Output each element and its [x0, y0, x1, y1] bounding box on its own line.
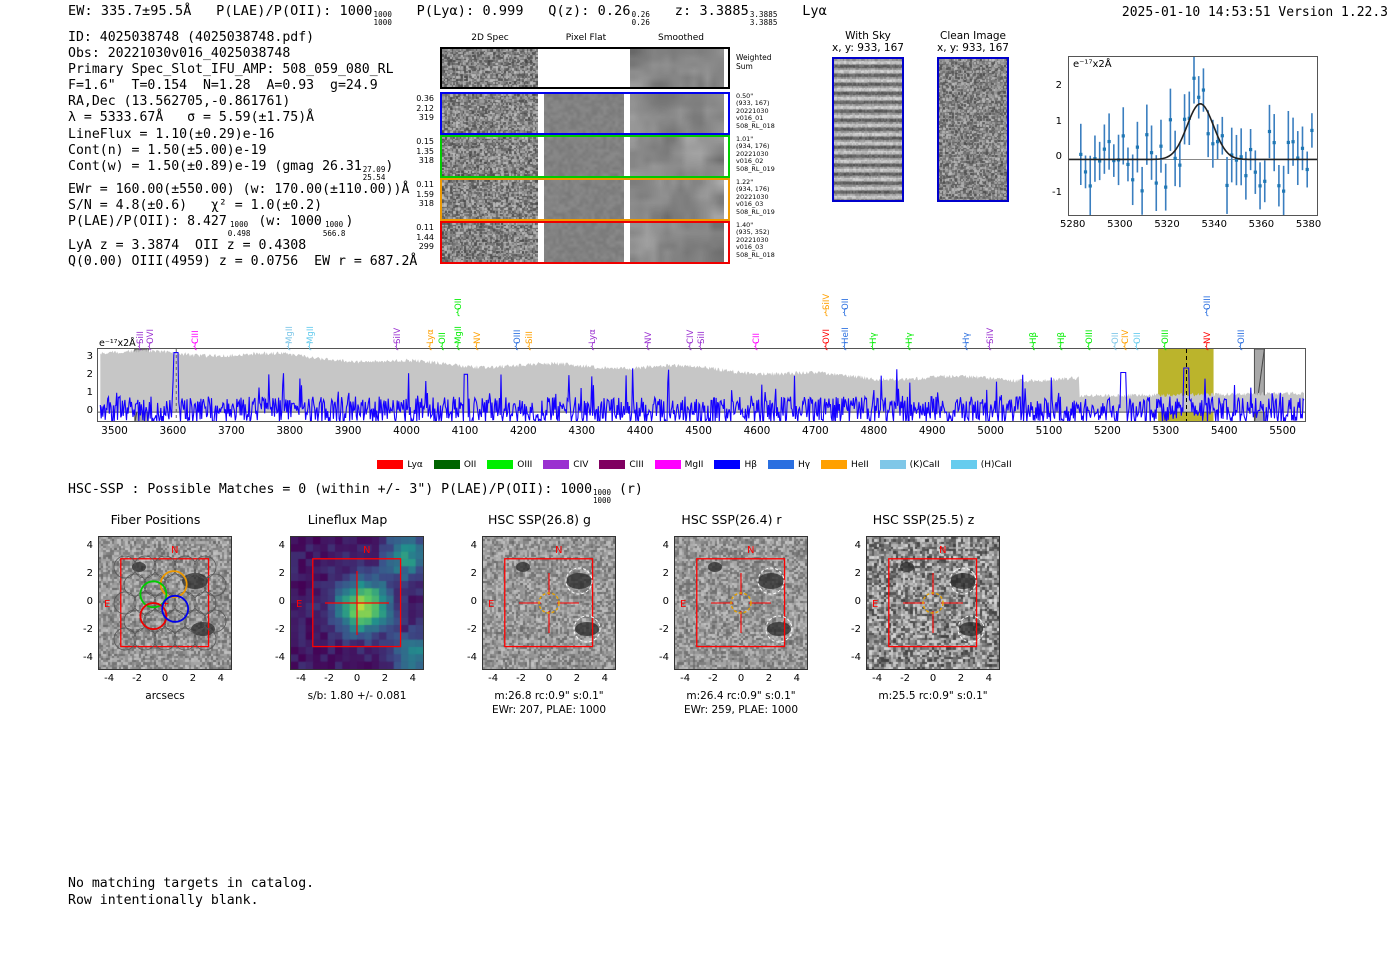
- spec2d-block: 2D SpecPixel FlatSmoothedWeighted Sum0.3…: [440, 33, 730, 46]
- legend-item: MgII: [655, 460, 704, 470]
- emission-line-label: OII: [1133, 314, 1143, 344]
- cutout-xtick: -4: [287, 673, 315, 684]
- spectrum-xtick: 4100: [439, 425, 491, 437]
- spec2d-row-stat: 2.12: [400, 104, 434, 114]
- emission-line-brace: {: [1238, 342, 1244, 352]
- spectrum-frame: [97, 348, 1306, 422]
- emission-line-brace: {: [870, 342, 876, 352]
- svg-text:E: E: [872, 599, 878, 610]
- cutout-ytick: -4: [452, 652, 477, 663]
- emission-line-brace: {: [1204, 342, 1210, 352]
- emission-line-brace: {: [698, 342, 704, 352]
- emission-line-label: MgII: [306, 314, 316, 344]
- smoothed-image: [630, 137, 724, 176]
- cutout-caption-1: s/b: 1.80 +/- 0.081: [276, 690, 438, 703]
- spec2d-image: [442, 94, 538, 133]
- emission-line-brace: {: [455, 342, 461, 352]
- weighted-sum-label: Weighted Sum: [736, 53, 796, 71]
- fit-plot-ytick: -1: [1040, 187, 1062, 198]
- sky-panel: Clean Imagex, y: 933, 167: [923, 30, 1023, 202]
- emission-line-label: OIII: [1203, 280, 1213, 310]
- sky-panel-title: Clean Image: [923, 30, 1023, 42]
- cutout-ytick: 0: [644, 596, 669, 607]
- legend-swatch: [951, 460, 977, 469]
- cutout-xtick: 2: [563, 673, 591, 684]
- emission-line-brace: {: [1086, 342, 1092, 352]
- cutout-xtick: 0: [151, 673, 179, 684]
- fit-plot-xtick: 5360: [1239, 219, 1283, 230]
- cutout-ytick: -2: [68, 624, 93, 635]
- timestamp-version: 2025-01-10 14:53:51 Version 1.22.3: [1122, 5, 1388, 20]
- cutout-ytick: 4: [68, 540, 93, 551]
- emission-line-brace: {: [753, 342, 759, 352]
- sky-panel-coords: x, y: 933, 167: [818, 42, 918, 54]
- info-seeing: F=1.6" T=0.154 N=1.28 A=0.93 g=24.9: [68, 78, 417, 94]
- cutout-xtick: -4: [95, 673, 123, 684]
- emission-line-label: SiIV: [393, 314, 403, 344]
- info-sn: S/N = 4.8(±0.6) χ² = 1.0(±0.2): [68, 198, 417, 214]
- info-redshifts: LyA z = 3.3874 OII z = 0.4308: [68, 238, 417, 254]
- emission-line-label: Hβ: [1057, 314, 1067, 344]
- sky-panel-caption: Clean Imagex, y: 933, 167: [923, 30, 1023, 54]
- fit-plot-ytick: 2: [1040, 80, 1062, 91]
- hsc-header-tail: (r): [619, 482, 643, 497]
- fit-plot-xtick: 5320: [1145, 219, 1189, 230]
- spec2d-image: [442, 223, 538, 262]
- pixel-flat-image: [544, 137, 624, 176]
- emission-line-brace: {: [1112, 342, 1118, 352]
- spec2d-row-stat: 1.35: [400, 147, 434, 157]
- emission-line-label: OII: [841, 280, 851, 310]
- svg-text:N: N: [363, 545, 370, 556]
- spectrum-xtick: 3900: [322, 425, 374, 437]
- cutout-caption-1: m:25.5 rc:0.9" s:0.1": [852, 690, 1014, 703]
- emission-line-brace: {: [286, 342, 292, 352]
- svg-text:E: E: [488, 599, 494, 610]
- spec2d-row-stat: 1.59: [400, 190, 434, 200]
- fit-plot-ytick: 0: [1040, 151, 1062, 162]
- sky-panel-image-frame: [832, 57, 904, 202]
- emission-line-label: OIII: [1161, 314, 1171, 344]
- legend-swatch: [487, 460, 513, 469]
- spec2d-row: [440, 221, 730, 264]
- spec2d-image: [442, 180, 538, 219]
- spec2d-row: [440, 135, 730, 178]
- plya-label: P(Lyα):: [417, 3, 475, 19]
- spec2d-image: [442, 49, 538, 87]
- info-plae-mid: (w: 1000: [258, 214, 322, 229]
- emission-line-brace: {: [147, 342, 153, 352]
- cutout-xtick: 4: [591, 673, 619, 684]
- cutout-xtick: -4: [479, 673, 507, 684]
- cutout-caption-2: EWr: 207, PLAE: 1000: [468, 704, 630, 717]
- info-ewr: EWr = 160.00(±550.00) (w: 170.00(±110.00…: [68, 182, 417, 198]
- sky-panel-image: [939, 59, 1007, 200]
- emission-line-label: OII: [454, 280, 464, 310]
- spectrum-xtick: 3700: [205, 425, 257, 437]
- fit-plot-xtick: 5300: [1098, 219, 1142, 230]
- hsc-ssp-header: HSC-SSP : Possible Matches = 0 (within +…: [68, 482, 643, 505]
- emission-line-brace: {: [137, 342, 143, 352]
- emission-line-label: NV: [644, 314, 654, 344]
- info-cont-w-tail: ): [385, 159, 393, 174]
- emission-fit-plot: e⁻¹⁷x2Å210-1528053005320534053605380: [1040, 48, 1328, 246]
- cutout-xtick: 2: [947, 673, 975, 684]
- fit-plot-xtick: 5380: [1287, 219, 1331, 230]
- legend-item: HeII: [821, 460, 869, 470]
- emission-line-label: OIII: [1237, 314, 1247, 344]
- svg-text:N: N: [555, 545, 562, 556]
- legend-swatch: [821, 460, 847, 469]
- sky-panel-title: With Sky: [818, 30, 918, 42]
- legend-label: (K)CaII: [910, 460, 940, 470]
- emission-line-brace: {: [474, 342, 480, 352]
- cutout-ytick: -4: [644, 652, 669, 663]
- spec2d-row-meta-line: 508_RL_018: [736, 252, 796, 259]
- cutout-xtick: 0: [919, 673, 947, 684]
- cutout-annotation-overlay: NE: [483, 537, 615, 669]
- cutout-xtick: 0: [343, 673, 371, 684]
- fiber-circle: [161, 571, 187, 597]
- emission-line-label: SiIV: [822, 280, 832, 310]
- fit-plot-xtick: 5280: [1051, 219, 1095, 230]
- emission-line-label: CII: [752, 314, 762, 344]
- sky-panel-caption: With Skyx, y: 933, 167: [818, 30, 918, 54]
- cutout-caption-2: EWr: 259, PLAE: 1000: [660, 704, 822, 717]
- info-q: Q(0.00) OIII(4959) z = 0.0756 EW r = 687…: [68, 254, 417, 270]
- emission-line-brace: {: [589, 342, 595, 352]
- emission-line-brace: {: [987, 342, 993, 352]
- legend-swatch: [377, 460, 403, 469]
- cutout-xtick: 2: [179, 673, 207, 684]
- z-lo: 3.3885: [750, 19, 778, 27]
- svg-text:E: E: [104, 599, 110, 610]
- spec2d-image: [442, 137, 538, 176]
- spectrum-xtick: 3800: [264, 425, 316, 437]
- spectrum-legend: LyαOIIOIIICIVCIIIMgIIHβHγHeII(K)CaII(H)C…: [0, 454, 1400, 473]
- spectrum-xtick: 4300: [556, 425, 608, 437]
- emission-line-label: Hγ: [962, 314, 972, 344]
- fit-plot-xtick: 5340: [1192, 219, 1236, 230]
- spectrum-xtick: 3600: [147, 425, 199, 437]
- svg-text:N: N: [939, 545, 946, 556]
- cutout-ytick: -2: [836, 624, 861, 635]
- cutout-ytick: -2: [260, 624, 285, 635]
- spec2d-row-stats: 0.111.44299: [400, 223, 434, 252]
- cutout-ytick: 4: [836, 540, 861, 551]
- plae-label: P(LAE)/P(OII):: [216, 3, 331, 19]
- emission-line-label: CIII: [191, 314, 201, 344]
- info-plae: P(LAE)/P(OII): 8.42710000.498 (w: 100010…: [68, 214, 417, 237]
- legend-label: Lyα: [407, 460, 422, 470]
- info-plae-tail: ): [345, 214, 353, 229]
- cutout-panel-title: Lineflux Map: [260, 512, 435, 527]
- info-slot: Primary Spec_Slot_IFU_AMP: 508_059_080_R…: [68, 62, 417, 78]
- plya-value: 0.999: [482, 3, 523, 19]
- emission-line-brace: {: [192, 342, 198, 352]
- fit-plot-units: e⁻¹⁷x2Å: [1073, 59, 1112, 70]
- emission-line-brace: {: [307, 342, 313, 352]
- info-plae-lo: 0.498: [228, 230, 251, 238]
- cutout-ytick: 0: [836, 596, 861, 607]
- cutout-ytick: -2: [452, 624, 477, 635]
- smoothed-image: [630, 94, 724, 133]
- spectrum-xtick: 4500: [673, 425, 725, 437]
- emission-line-label: OVI: [146, 314, 156, 344]
- cutout-ytick: -4: [68, 652, 93, 663]
- cutout-caption-1: m:26.8 rc:0.9" s:0.1": [468, 690, 630, 703]
- info-radec: RA,Dec (13.562705,-0.861761): [68, 94, 417, 110]
- target-info-block: ID: 4025038748 (4025038748.pdf) Obs: 202…: [68, 30, 417, 270]
- spectrum-xtick: 4200: [497, 425, 549, 437]
- cutout-annotation-overlay: +NE: [99, 537, 231, 669]
- cutout-xtick: 4: [975, 673, 1003, 684]
- spectrum-xtick: 4600: [731, 425, 783, 437]
- z-value: 3.3885: [699, 3, 748, 19]
- plae-value: 1000: [340, 3, 373, 19]
- legend-swatch: [543, 460, 569, 469]
- plae-lo: 1000: [373, 19, 391, 27]
- footer-line-2: Row intentionally blank.: [68, 893, 314, 910]
- spectrum-xtick: 4000: [381, 425, 433, 437]
- spectrum-xtick: 4700: [789, 425, 841, 437]
- spectrum-error-envelope: [100, 349, 1304, 412]
- sky-panel: With Skyx, y: 933, 167: [818, 30, 918, 202]
- svg-text:E: E: [680, 599, 686, 610]
- info-plae-wlo: 566.8: [323, 230, 346, 238]
- legend-label: OII: [464, 460, 476, 470]
- legend-item: (K)CaII: [880, 460, 940, 470]
- legend-swatch: [880, 460, 906, 469]
- aperture-circle: [923, 593, 943, 613]
- spec2d-row-meta-line: 508_RL_019: [736, 166, 796, 173]
- emission-line-label: OII: [438, 314, 448, 344]
- emission-line-brace: {: [1134, 342, 1140, 352]
- legend-swatch: [434, 460, 460, 469]
- info-lineflux: LineFlux = 1.10(±0.29)e-16: [68, 127, 417, 143]
- spec2d-row-meta: 1.22"(934, 176)20221030v016_03508_RL_019: [736, 179, 796, 216]
- sky-panel-image-frame: [937, 57, 1009, 202]
- spec2d-row-meta-line: 508_RL_019: [736, 209, 796, 216]
- emission-line-label: OIII: [513, 314, 523, 344]
- spec2d-row-stat: 318: [400, 199, 434, 209]
- pixel-flat-image: [544, 223, 624, 262]
- cutout-image-frame: NE: [290, 536, 424, 670]
- emission-line-label: OVI: [822, 314, 832, 344]
- cutout-ytick: 2: [68, 568, 93, 579]
- cutout-panel-title: Fiber Positions: [68, 512, 243, 527]
- spec2d-row-meta: 1.40"(935, 352)20221030v016_03508_RL_018: [736, 222, 796, 259]
- emission-line-label: Lyα: [426, 314, 436, 344]
- cutout-ytick: -4: [836, 652, 861, 663]
- cutout-xtick: 4: [207, 673, 235, 684]
- info-obs: Obs: 20221030v016_4025038748: [68, 46, 417, 62]
- cutout-annotation-overlay: NE: [291, 537, 423, 669]
- legend-swatch: [599, 460, 625, 469]
- qz-lo: 0.26: [632, 19, 650, 27]
- smoothed-image: [630, 223, 724, 262]
- emission-line-label: OIII: [1085, 314, 1095, 344]
- spectrum-ytick: 0: [75, 405, 93, 416]
- legend-item: Hγ: [768, 460, 810, 470]
- sky-panel-image: [834, 59, 902, 200]
- info-cont-w: Cont(w) = 1.50(±0.89)e-19 (gmag 26.3127.…: [68, 159, 417, 182]
- aperture-circle: [731, 593, 751, 613]
- emission-line-label: CIV: [686, 314, 696, 344]
- qz-label: Q(z):: [548, 3, 589, 19]
- legend-label: Hγ: [798, 460, 810, 470]
- legend-swatch: [714, 460, 740, 469]
- emission-line-brace: {: [645, 342, 651, 352]
- spec2d-row-stat: 299: [400, 242, 434, 252]
- emission-line-label: MgII: [285, 314, 295, 344]
- cutout-xtick: 2: [755, 673, 783, 684]
- spec2d-row-meta: 1.01"(934, 176)20221030v016_02508_RL_019: [736, 136, 796, 173]
- footer-line-1: No matching targets in catalog.: [68, 876, 314, 893]
- hsc-header-text: HSC-SSP : Possible Matches = 0 (within +…: [68, 482, 592, 497]
- spectrum-data: [98, 349, 1306, 422]
- emission-line-label: OII: [1111, 314, 1121, 344]
- emission-line-brace: {: [1122, 342, 1128, 352]
- emission-line-label: CIV: [1121, 314, 1131, 344]
- cutout-xtick: -2: [123, 673, 151, 684]
- z-label: z:: [675, 3, 691, 19]
- legend-swatch: [768, 460, 794, 469]
- spec2d-row: [440, 92, 730, 135]
- pixel-flat-image: [544, 94, 624, 133]
- aperture-circle: [539, 593, 559, 613]
- legend-label: HeII: [851, 460, 869, 470]
- legend-item: OII: [434, 460, 476, 470]
- emission-line-brace: {: [514, 342, 520, 352]
- emission-line-brace: {: [526, 342, 532, 352]
- spec2d-row-stats: 0.362.12319: [400, 94, 434, 123]
- fit-plot-data: [1069, 57, 1318, 216]
- info-id: ID: 4025038748 (4025038748.pdf): [68, 30, 417, 46]
- emission-line-brace: {: [1162, 342, 1168, 352]
- legend-item: CIII: [599, 460, 643, 470]
- legend-item: CIV: [543, 460, 588, 470]
- cutout-xtick: 4: [783, 673, 811, 684]
- emission-line-brace: {: [823, 342, 829, 352]
- spec2d-row-stat: 1.44: [400, 233, 434, 243]
- spectrum-xtick: 5400: [1198, 425, 1250, 437]
- header-summary-line: EW: 335.7±95.5Å P(LAE)/P(OII): 100010001…: [68, 3, 827, 27]
- sky-panel-coords: x, y: 933, 167: [923, 42, 1023, 54]
- emission-line-brace: {: [1204, 308, 1210, 318]
- cutout-ytick: 4: [452, 540, 477, 551]
- cutout-xtick: -2: [891, 673, 919, 684]
- emission-line-label: Hγ: [869, 314, 879, 344]
- emission-line-label: Hβ: [1029, 314, 1039, 344]
- spectrum-ytick: 3: [75, 351, 93, 362]
- legend-swatch: [655, 460, 681, 469]
- spec2d-row-stats: 0.151.35318: [400, 137, 434, 166]
- cutout-ytick: 0: [260, 596, 285, 607]
- emission-line-label: MgII: [454, 314, 464, 344]
- cutout-ytick: 2: [260, 568, 285, 579]
- legend-label: (H)CaII: [981, 460, 1012, 470]
- spec2d-row-stat: 0.15: [400, 137, 434, 147]
- smoothed-image: [630, 180, 724, 219]
- legend-item: OIII: [487, 460, 532, 470]
- fit-plot-ytick: 1: [1040, 116, 1062, 127]
- legend-label: MgII: [685, 460, 704, 470]
- spectrum-xtick: 5100: [1023, 425, 1075, 437]
- legend-item: Hβ: [714, 460, 757, 470]
- spectrum-xtick: 5300: [1140, 425, 1192, 437]
- legend-item: (H)CaII: [951, 460, 1012, 470]
- info-cont-w-lo: 25.54: [363, 174, 386, 182]
- spec2d-row-stat: 0.36: [400, 94, 434, 104]
- cutout-xtick: 0: [727, 673, 755, 684]
- spec2d-row-meta: 0.50"(933, 167)20221030v016_01508_RL_018: [736, 93, 796, 130]
- spec2d-row-stat: 0.11: [400, 180, 434, 190]
- emission-line-label: SiIV: [986, 314, 996, 344]
- emission-line-brace: {: [394, 342, 400, 352]
- emission-line-label: SiII: [697, 314, 707, 344]
- cutout-ytick: -2: [644, 624, 669, 635]
- cutout-ytick: 4: [260, 540, 285, 551]
- spectrum-ytick: 2: [75, 369, 93, 380]
- cutout-ytick: 0: [68, 596, 93, 607]
- legend-item: Lyα: [377, 460, 422, 470]
- spec2d-column-title: 2D Spec: [440, 33, 540, 43]
- cutout-ytick: -4: [260, 652, 285, 663]
- fit-plot-frame: e⁻¹⁷x2Å: [1068, 56, 1318, 216]
- cutout-panel-title: HSC SSP(26.8) g: [452, 512, 627, 527]
- spectrum-xtick: 4900: [906, 425, 958, 437]
- emission-line-brace: {: [963, 342, 969, 352]
- spectrum-xtick: 4800: [848, 425, 900, 437]
- spectrum-xtick: 4400: [614, 425, 666, 437]
- cutout-ytick: 2: [452, 568, 477, 579]
- emission-line-label: SiII: [525, 314, 535, 344]
- spec2d-row-stat: 0.11: [400, 223, 434, 233]
- cutout-xtick: -2: [699, 673, 727, 684]
- cutout-xtick: -2: [315, 673, 343, 684]
- spec2d-column-title: Pixel Flat: [540, 33, 632, 43]
- cutout-image-frame: +NE: [98, 536, 232, 670]
- legend-label: Hβ: [744, 460, 757, 470]
- footer-note: No matching targets in catalog. Row inte…: [68, 876, 314, 909]
- emission-line-label: Lyα: [588, 314, 598, 344]
- cutout-xtick: -4: [863, 673, 891, 684]
- pixel-flat-image: [544, 49, 624, 87]
- cutout-xtick: -2: [507, 673, 535, 684]
- emission-line-label: Hγ: [905, 314, 915, 344]
- emission-line-brace: {: [906, 342, 912, 352]
- ew-label: EW:: [68, 3, 93, 19]
- emission-line-brace: {: [427, 342, 433, 352]
- smoothed-image: [630, 49, 724, 87]
- emission-line-label: NV: [473, 314, 483, 344]
- emission-line-label: HeII: [841, 314, 851, 344]
- emission-line-brace: {: [842, 342, 848, 352]
- cutout-xtick: 2: [371, 673, 399, 684]
- cutout-ytick: 2: [836, 568, 861, 579]
- info-cont-w-text: Cont(w) = 1.50(±0.89)e-19 (gmag 26.31: [68, 159, 362, 174]
- ew-value: 335.7±95.5Å: [101, 3, 192, 19]
- spec2d-row: [440, 178, 730, 221]
- legend-label: CIII: [629, 460, 643, 470]
- cutout-annotation-overlay: NE: [867, 537, 999, 669]
- cutout-caption-1: m:26.4 rc:0.9" s:0.1": [660, 690, 822, 703]
- spectrum-xtick: 5500: [1257, 425, 1309, 437]
- info-cont-n: Cont(n) = 1.50(±5.00)e-19: [68, 143, 417, 159]
- emission-line-brace: {: [439, 342, 445, 352]
- cutout-ytick: 4: [644, 540, 669, 551]
